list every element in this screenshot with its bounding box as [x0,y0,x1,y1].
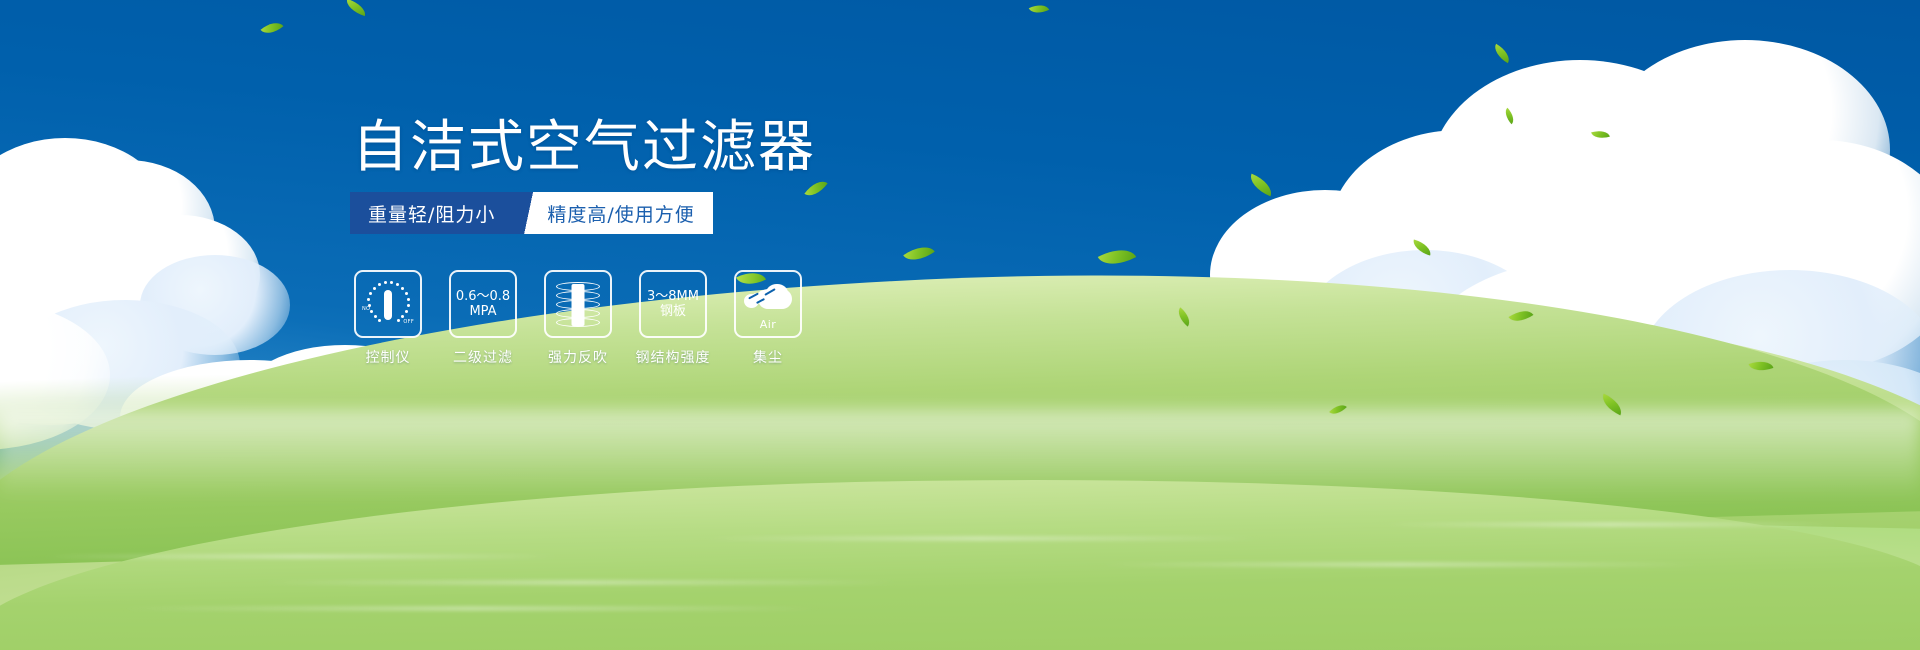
feature-icon-box: 3～8MM 钢板 [639,270,707,338]
feature-icon-box: 0.6～0.8 MPA [449,270,517,338]
badge-secondary: 精度高/使用方便 [543,192,712,234]
feature-label: 钢结构强度 [636,347,711,367]
feature-list: NO OFF 控制仪 0.6～0.8 MPA 二级过滤 [352,270,804,367]
dial-label-on: NO [362,306,370,312]
control-dial-icon: NO OFF [363,279,413,329]
badge-primary: 重量轻/阻力小 [350,192,517,234]
badge-group: 重量轻/阻力小 精度高/使用方便 [350,192,713,234]
feature-label: 集尘 [753,347,783,367]
feature-item-control: NO OFF 控制仪 [352,270,424,367]
steel-material-text: 钢板 [660,304,686,319]
air-cloud-icon [742,277,794,317]
leaf-icon [736,270,766,291]
badge-divider [517,192,543,234]
feature-icon-box [544,270,612,338]
feature-icon-box: Air [734,270,802,338]
feature-item-blowback: 强力反吹 [542,270,614,367]
pressure-range-text: 0.6～0.8 [456,289,510,304]
hero-banner: 自洁式空气过滤器 重量轻/阻力小 精度高/使用方便 [0,0,1920,650]
feature-label: 控制仪 [366,347,411,367]
feature-label: 二级过滤 [453,347,513,367]
feature-item-dust: Air 集尘 [732,270,804,367]
feature-item-steel: 3～8MM 钢板 钢结构强度 [637,270,709,367]
page-title: 自洁式空气过滤器 [352,115,816,181]
dial-label-off: OFF [403,319,414,325]
feature-item-pressure: 0.6～0.8 MPA 二级过滤 [447,270,519,367]
steel-thickness-text: 3～8MM [647,289,699,304]
air-label-text: Air [760,318,777,331]
feature-icon-box: NO OFF [354,270,422,338]
pressure-unit-text: MPA [469,304,496,319]
filter-cartridge-icon [556,281,600,327]
feature-label: 强力反吹 [548,347,608,367]
